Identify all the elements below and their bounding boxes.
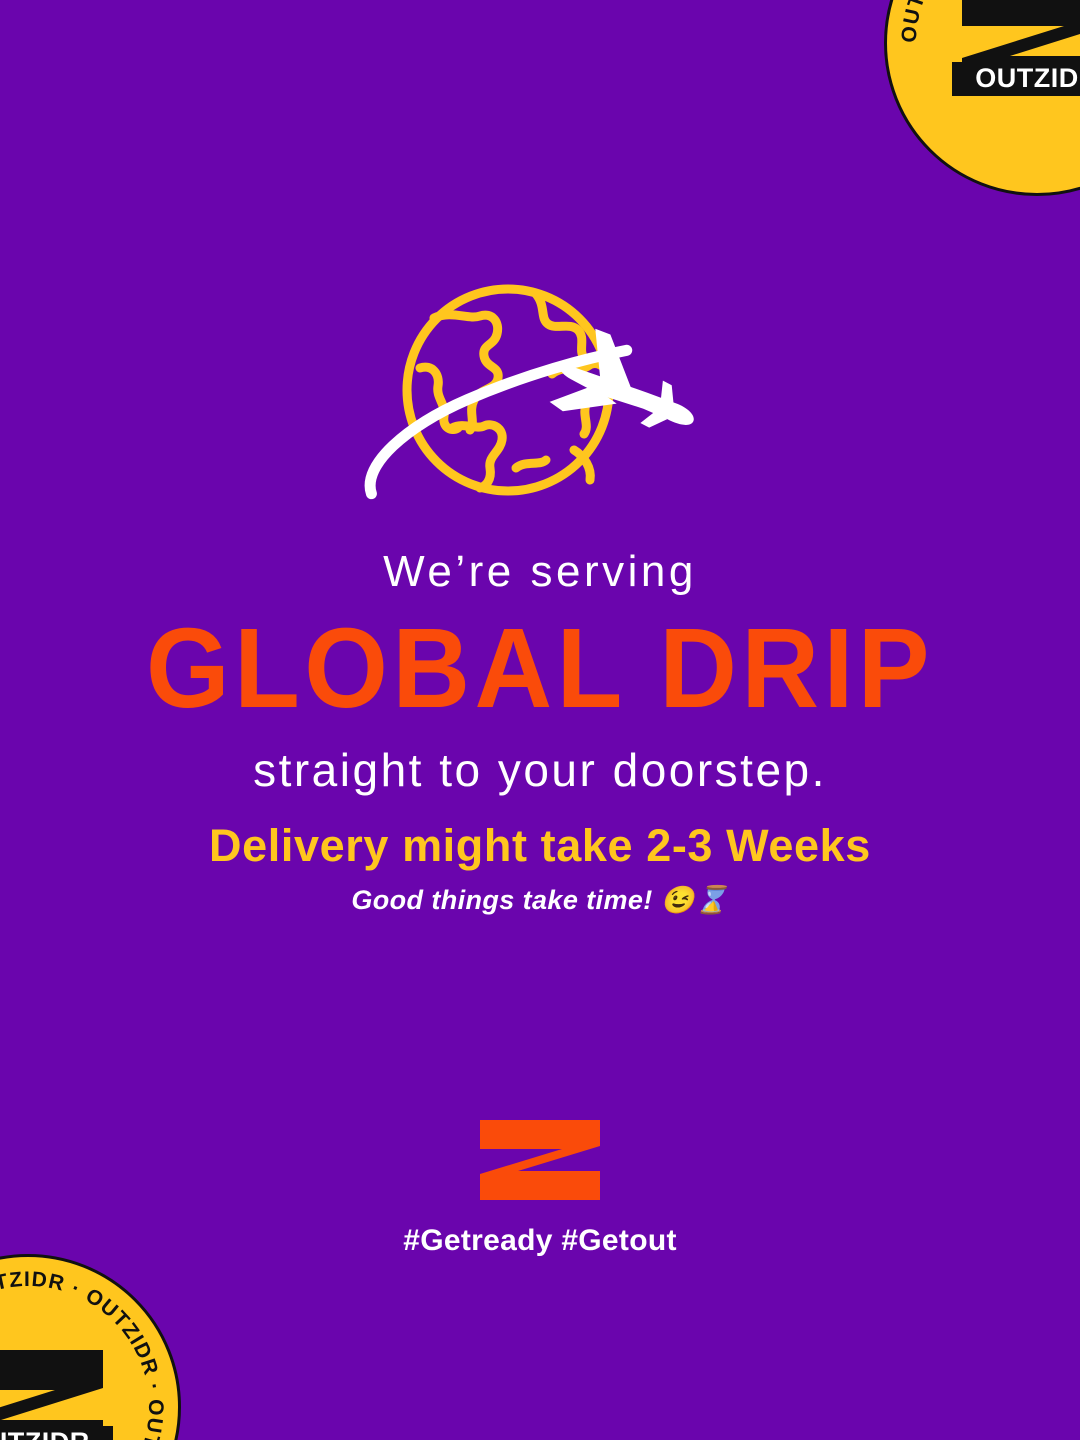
delivery-reassurance-text: Good things take time! 😉⌛: [0, 884, 1080, 916]
outzidr-badge-bottom-left: OUTZIDR · OUTZIDR · OUTZIDR · OUTZIDR · …: [0, 1254, 181, 1440]
globe-airplane-icon: [340, 272, 740, 522]
outzidr-z-logo: [476, 1118, 604, 1202]
badge-inner-logo: OUTZIDR: [944, 0, 1080, 108]
subline-text: straight to your doorstep.: [0, 745, 1080, 796]
badge-wordmark-text: OUTZIDR: [975, 63, 1080, 93]
eyebrow-text: We’re serving: [0, 548, 1080, 596]
promo-poster: OUTZIDR · OUTZIDR · OUTZIDR · OUTZIDR · …: [0, 0, 1080, 1440]
airplane-icon: [541, 320, 711, 467]
delivery-time-text: Delivery might take 2-3 Weeks: [0, 820, 1080, 872]
headline-text: GLOBAL DRIP: [0, 610, 1080, 729]
footer-block: #Getready #Getout: [0, 1118, 1080, 1258]
z-logo-shape: [480, 1120, 600, 1200]
badge-inner-logo: OUTZIDR: [0, 1342, 121, 1440]
headline-block: We’re serving GLOBAL DRIP straight to yo…: [0, 548, 1080, 796]
outzidr-badge-top-right: OUTZIDR · OUTZIDR · OUTZIDR · OUTZIDR · …: [884, 0, 1080, 196]
badge-wordmark-text: OUTZIDR: [0, 1427, 90, 1440]
hashtags-text: #Getready #Getout: [0, 1224, 1080, 1258]
delivery-notice-block: Delivery might take 2-3 Weeks Good thing…: [0, 820, 1080, 916]
